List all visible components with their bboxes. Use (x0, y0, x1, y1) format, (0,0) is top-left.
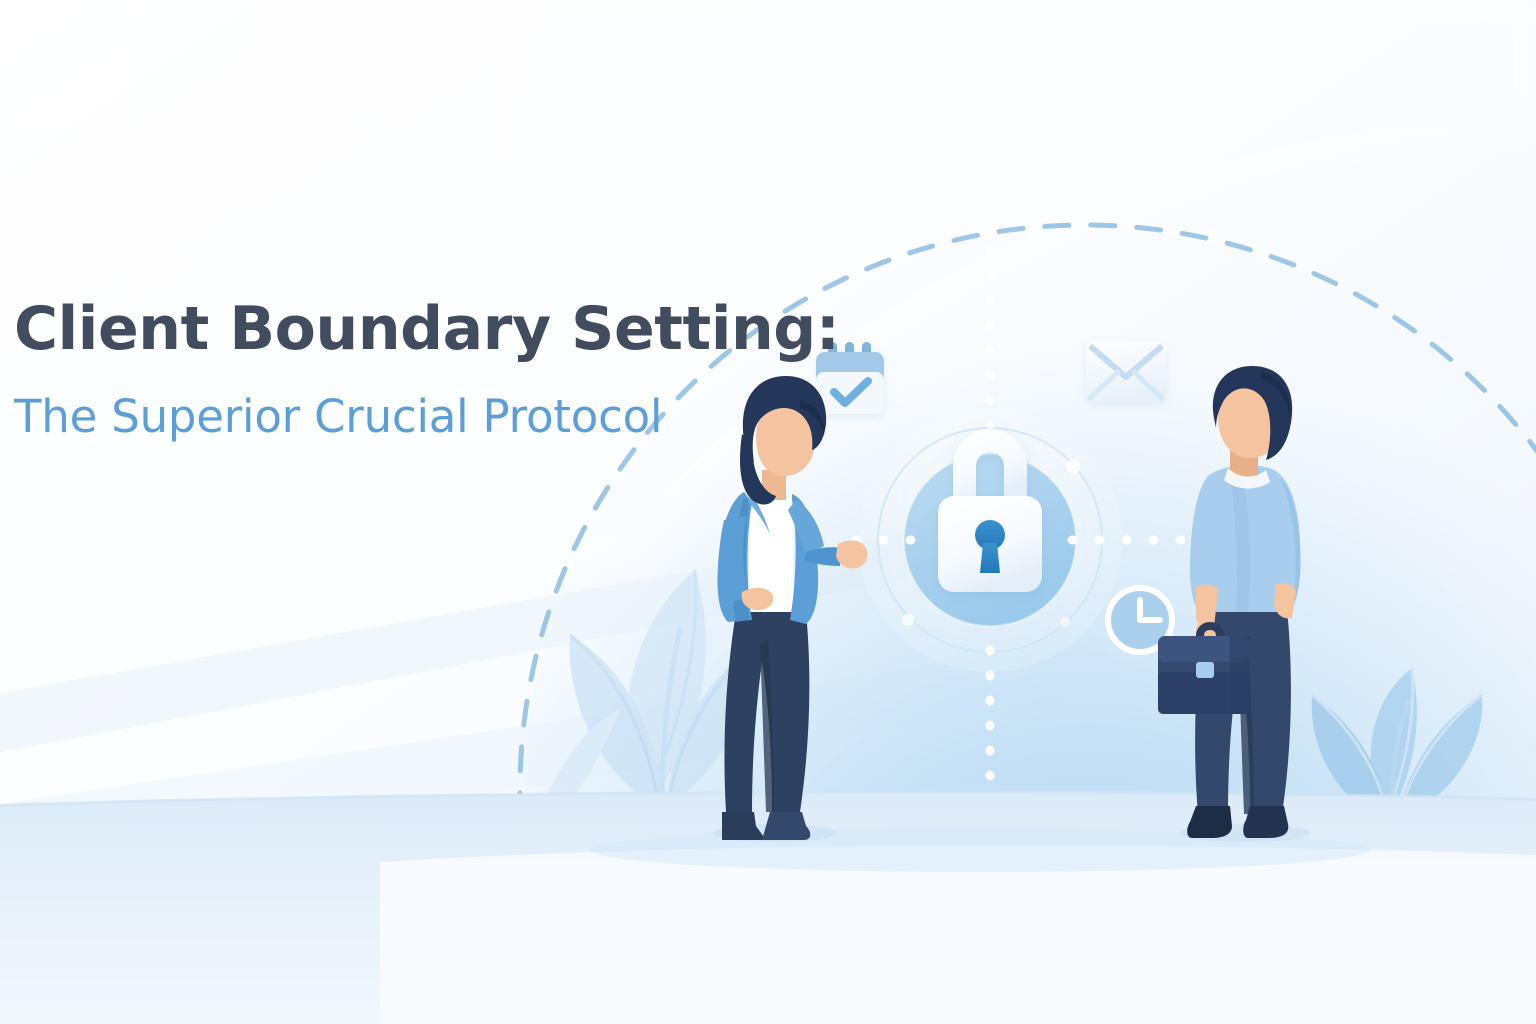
page-title: Client Boundary Setting: (14, 296, 754, 363)
envelope-icon (1086, 341, 1166, 402)
ring-node-dot (902, 614, 914, 626)
ring-node-dot (1060, 617, 1070, 627)
ring-node-dot (1066, 460, 1080, 474)
scene-illustration (0, 0, 1536, 1024)
illustration-canvas: Client Boundary Setting: The Superior Cr… (0, 0, 1536, 1024)
headline-block: Client Boundary Setting: The Superior Cr… (14, 296, 754, 443)
briefcase-clasp (1196, 662, 1214, 678)
page-subtitle: The Superior Crucial Protocol (14, 391, 754, 443)
